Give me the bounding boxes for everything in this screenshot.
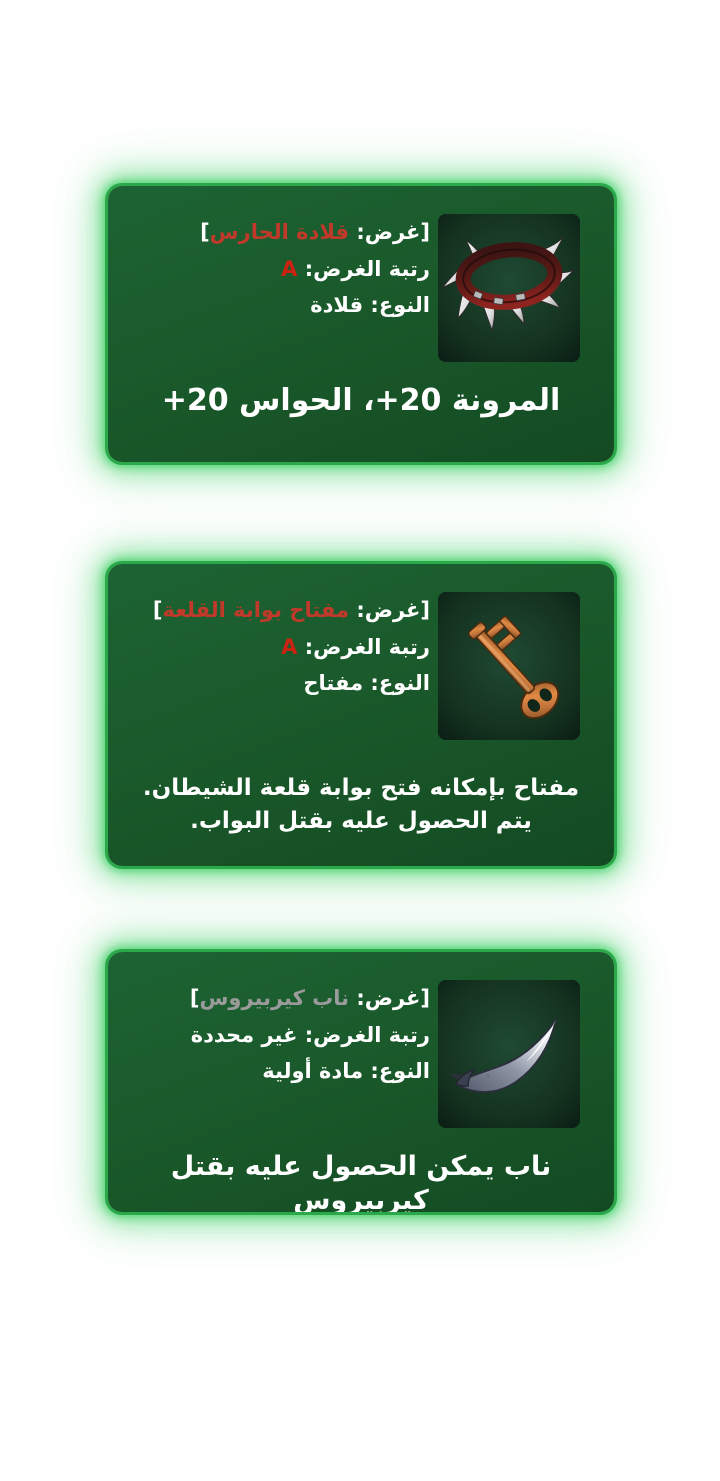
item-rank-label: رتبة الغرض: — [305, 257, 430, 281]
item-name-value: ناب كيربيروس — [199, 986, 349, 1010]
item-rank-value: غير محددة — [191, 1023, 298, 1047]
item-rank-line: رتبة الغرض: غير محددة — [122, 1017, 430, 1054]
card-top-row: [غرض: قلادة الحارس] رتبة الغرض: A النوع:… — [108, 186, 614, 362]
item-rank-line: رتبة الغرض: A — [122, 629, 430, 666]
item-type-label: النوع: — [370, 293, 430, 317]
item-card-list: [غرض: قلادة الحارس] رتبة الغرض: A النوع:… — [0, 0, 720, 1481]
card-top-row: [غرض: مفتاح بوابة القلعة] رتبة الغرض: A … — [108, 564, 614, 740]
item-name-suffix: ] — [200, 220, 210, 244]
item-card[interactable]: [غرض: مفتاح بوابة القلعة] رتبة الغرض: A … — [108, 564, 614, 866]
castle-gate-key-icon — [438, 592, 580, 740]
item-rank-value: A — [281, 257, 297, 281]
item-name-value: مفتاح بوابة القلعة — [162, 598, 349, 622]
item-description: المرونة 20+، الحواس 20+ — [108, 382, 614, 420]
item-name-line: [غرض: قلادة الحارس] — [122, 214, 430, 251]
item-type-value: قلادة — [310, 293, 363, 317]
item-description: مفتاح بإمكانه فتح بوابة قلعة الشيطان. يت… — [108, 772, 614, 839]
item-name-prefix: [غرض: — [349, 598, 430, 622]
item-rank-value: A — [281, 635, 297, 659]
cerberus-fang-icon — [438, 980, 580, 1128]
item-meta: [غرض: قلادة الحارس] رتبة الغرض: A النوع:… — [108, 214, 438, 324]
item-rank-label: رتبة الغرض: — [305, 635, 430, 659]
item-type-value: مادة أولية — [262, 1059, 363, 1083]
description-line: ناب يمكن الحصول عليه بقتل كيربيروس — [130, 1150, 592, 1212]
item-description: ناب يمكن الحصول عليه بقتل كيربيروس — [108, 1150, 614, 1212]
description-line: مفتاح بإمكانه فتح بوابة قلعة الشيطان. — [130, 772, 592, 805]
item-name-line: [غرض: مفتاح بوابة القلعة] — [122, 592, 430, 629]
item-name-line: [غرض: ناب كيربيروس] — [122, 980, 430, 1017]
item-name-suffix: ] — [190, 986, 200, 1010]
item-type-value: مفتاح — [303, 671, 363, 695]
item-name-prefix: [غرض: — [349, 220, 430, 244]
item-type-line: النوع: مادة أولية — [122, 1053, 430, 1090]
item-type-line: النوع: قلادة — [122, 287, 430, 324]
item-meta: [غرض: ناب كيربيروس] رتبة الغرض: غير محدد… — [108, 980, 438, 1090]
description-line: المرونة 20+، الحواس 20+ — [130, 382, 592, 420]
item-meta: [غرض: مفتاح بوابة القلعة] رتبة الغرض: A … — [108, 592, 438, 702]
item-card[interactable]: [غرض: قلادة الحارس] رتبة الغرض: A النوع:… — [108, 186, 614, 462]
item-name-value: قلادة الحارس — [210, 220, 349, 244]
item-type-line: النوع: مفتاح — [122, 665, 430, 702]
item-type-label: النوع: — [370, 1059, 430, 1083]
item-card[interactable]: [غرض: ناب كيربيروس] رتبة الغرض: غير محدد… — [108, 952, 614, 1212]
description-line: يتم الحصول عليه بقتل البواب. — [130, 805, 592, 838]
card-top-row: [غرض: ناب كيربيروس] رتبة الغرض: غير محدد… — [108, 952, 614, 1128]
spiked-collar-icon — [438, 214, 580, 362]
item-rank-label: رتبة الغرض: — [305, 1023, 430, 1047]
item-rank-line: رتبة الغرض: A — [122, 251, 430, 288]
item-name-prefix: [غرض: — [349, 986, 430, 1010]
item-type-label: النوع: — [370, 671, 430, 695]
